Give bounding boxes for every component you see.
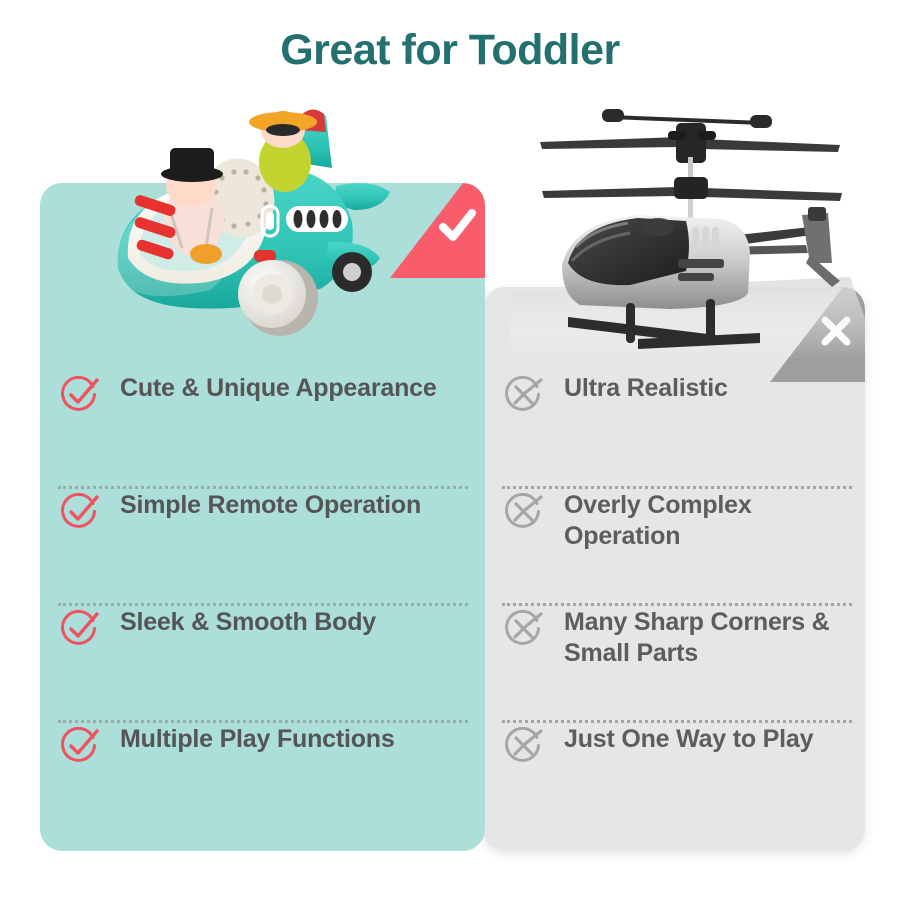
list-divider [58, 603, 468, 606]
page-title: Great for Toddler [0, 26, 900, 75]
list-item-label: Sleek & Smooth Body [120, 606, 376, 638]
circle-cross-icon [504, 725, 544, 765]
list-item[interactable]: Ultra Realistic [492, 372, 862, 486]
list-divider [58, 720, 468, 723]
list-divider [502, 486, 852, 489]
list-divider [58, 486, 468, 489]
list-item-label: Ultra Realistic [564, 372, 728, 404]
circle-cross-icon [504, 374, 544, 414]
list-item[interactable]: Simple Remote Operation [48, 489, 478, 603]
list-item-label: Many Sharp Corners & Small Parts [564, 606, 850, 669]
list-item-label: Overly Complex Operation [564, 489, 850, 552]
list-item[interactable]: Multiple Play Functions [48, 723, 478, 815]
circle-cross-icon [504, 491, 544, 531]
circle-check-icon [60, 374, 100, 414]
list-item[interactable]: Cute & Unique Appearance [48, 372, 478, 486]
circle-cross-icon [504, 608, 544, 648]
card-badge-positive [390, 183, 485, 278]
list-item[interactable]: Just One Way to Play [492, 723, 862, 815]
list-item-label: Just One Way to Play [564, 723, 813, 755]
list-item-label: Multiple Play Functions [120, 723, 395, 755]
card-badge-negative [770, 287, 865, 382]
circle-check-icon [60, 725, 100, 765]
list-item-label: Simple Remote Operation [120, 489, 421, 521]
circle-check-icon [60, 608, 100, 648]
feature-list-positive: Cute & Unique Appearance Simple Remote O… [48, 372, 478, 815]
list-item[interactable]: Overly Complex Operation [492, 489, 862, 603]
feature-list-negative: Ultra Realistic Overly Complex Operation… [492, 372, 862, 815]
list-divider [502, 720, 852, 723]
circle-check-icon [60, 491, 100, 531]
list-divider [502, 603, 852, 606]
list-item-label: Cute & Unique Appearance [120, 372, 437, 404]
list-item[interactable]: Many Sharp Corners & Small Parts [492, 606, 862, 720]
list-item[interactable]: Sleek & Smooth Body [48, 606, 478, 720]
